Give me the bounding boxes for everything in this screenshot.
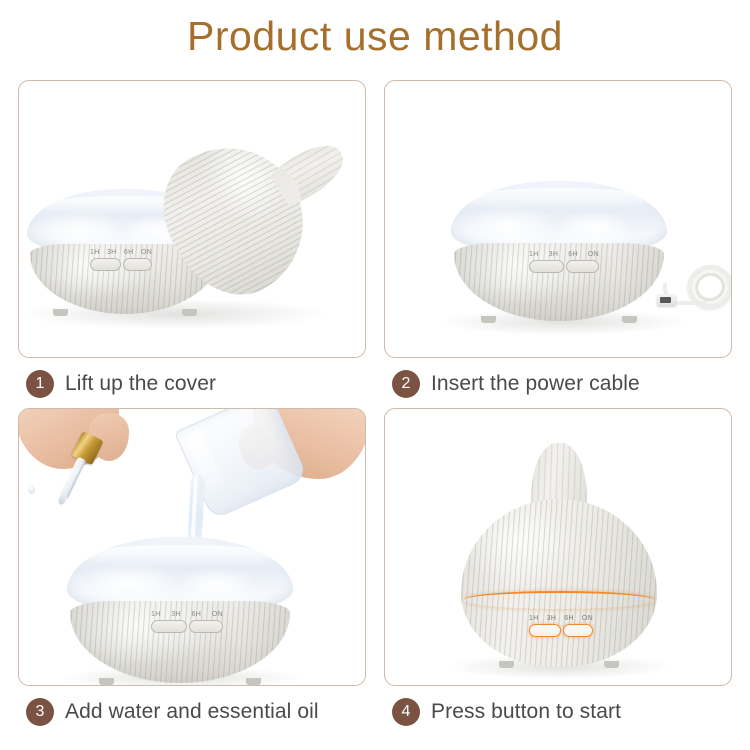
step-badge-4: 4 — [392, 698, 420, 726]
control-buttons[interactable] — [151, 620, 223, 633]
timer-button[interactable] — [90, 258, 121, 271]
step-cell-1: 1H 3H 6H ON — [18, 80, 366, 408]
control-label-on: ON — [212, 611, 223, 618]
usb-power-cable — [657, 263, 732, 325]
diffuser-foot — [622, 316, 637, 323]
step-badge-2: 2 — [392, 370, 420, 398]
step-caption-text-3: Add water and essential oil — [65, 700, 319, 724]
wood-grain-texture — [461, 499, 657, 667]
diffuser-foot — [604, 661, 619, 668]
infographic-page: Product use method 1H 3H — [0, 0, 750, 750]
step-caption-text-1: Lift up the cover — [65, 372, 216, 396]
control-label-on: ON — [141, 249, 152, 256]
diffuser-foot — [481, 316, 496, 323]
step-image-panel-4: 1H 3H 6H ON — [384, 408, 732, 686]
step-caption-2: 2 Insert the power cable — [392, 364, 640, 404]
diffuser-base: 1H 3H 6H ON — [451, 181, 667, 321]
control-label-3h: 3H — [549, 251, 559, 258]
diffuser-foot — [246, 678, 261, 685]
control-label-3h: 3H — [107, 249, 117, 256]
step-image-panel-3: 1H 3H 6H ON — [18, 408, 366, 686]
oil-droplet — [28, 485, 35, 494]
control-buttons[interactable] — [529, 260, 599, 273]
assembled-diffuser: 1H 3H 6H ON — [461, 443, 657, 667]
step-caption-1: 1 Lift up the cover — [26, 364, 216, 404]
control-panel[interactable]: 1H 3H 6H ON — [90, 249, 152, 271]
control-label-6h: 6H — [564, 615, 574, 622]
usb-connector-icon — [657, 294, 676, 306]
control-labels: 1H 3H 6H ON — [90, 249, 152, 256]
control-buttons[interactable] — [90, 258, 152, 271]
control-label-on: ON — [588, 251, 599, 258]
control-label-1h: 1H — [151, 611, 161, 618]
control-label-6h: 6H — [192, 611, 202, 618]
step-caption-text-2: Insert the power cable — [431, 372, 640, 396]
control-labels: 1H 3H 6H ON — [151, 611, 223, 618]
step-cell-3: 1H 3H 6H ON 3 Add water and essential — [18, 408, 366, 736]
control-panel[interactable]: 1H 3H 6H ON — [151, 611, 223, 633]
control-label-6h: 6H — [568, 251, 578, 258]
control-label-3h: 3H — [171, 611, 181, 618]
control-labels: 1H 3H 6H ON — [529, 251, 599, 258]
control-label-1h: 1H — [529, 251, 539, 258]
step-badge-3: 3 — [26, 698, 54, 726]
control-panel[interactable]: 1H 3H 6H ON — [529, 615, 593, 637]
control-labels: 1H 3H 6H ON — [529, 615, 593, 622]
diffuser-foot — [99, 678, 114, 685]
step-image-panel-2: 1H 3H 6H ON — [384, 80, 732, 358]
step-caption-3: 3 Add water and essential oil — [26, 692, 319, 732]
power-button[interactable] — [189, 620, 223, 633]
control-panel[interactable]: 1H 3H 6H ON — [529, 251, 599, 273]
timer-button[interactable] — [529, 260, 564, 273]
control-buttons[interactable] — [529, 624, 593, 637]
diffuser-foot — [53, 309, 68, 316]
power-button[interactable] — [563, 624, 593, 637]
step-badge-1: 1 — [26, 370, 54, 398]
diffuser-foot — [499, 661, 514, 668]
step-caption-text-4: Press button to start — [431, 700, 621, 724]
timer-button[interactable] — [151, 620, 187, 633]
step-cell-4: 1H 3H 6H ON 4 Press button to start — [384, 408, 732, 736]
steps-grid: 1H 3H 6H ON — [18, 80, 732, 735]
diffuser-body — [461, 499, 657, 667]
page-title: Product use method — [0, 8, 750, 64]
control-label-on: ON — [582, 615, 593, 622]
diffuser-foot — [182, 309, 197, 316]
timer-button[interactable] — [529, 624, 561, 637]
dropper-tip — [57, 494, 68, 506]
control-label-3h: 3H — [547, 615, 557, 622]
led-light-ring — [463, 591, 655, 609]
diffuser-base: 1H 3H 6H ON — [67, 537, 293, 683]
step-image-panel-1: 1H 3H 6H ON — [18, 80, 366, 358]
power-button[interactable] — [566, 260, 599, 273]
power-button[interactable] — [123, 258, 152, 271]
control-label-6h: 6H — [124, 249, 134, 256]
step-cell-2: 1H 3H 6H ON — [384, 80, 732, 408]
step-caption-4: 4 Press button to start — [392, 692, 621, 732]
control-label-1h: 1H — [529, 615, 539, 622]
control-label-1h: 1H — [90, 249, 100, 256]
